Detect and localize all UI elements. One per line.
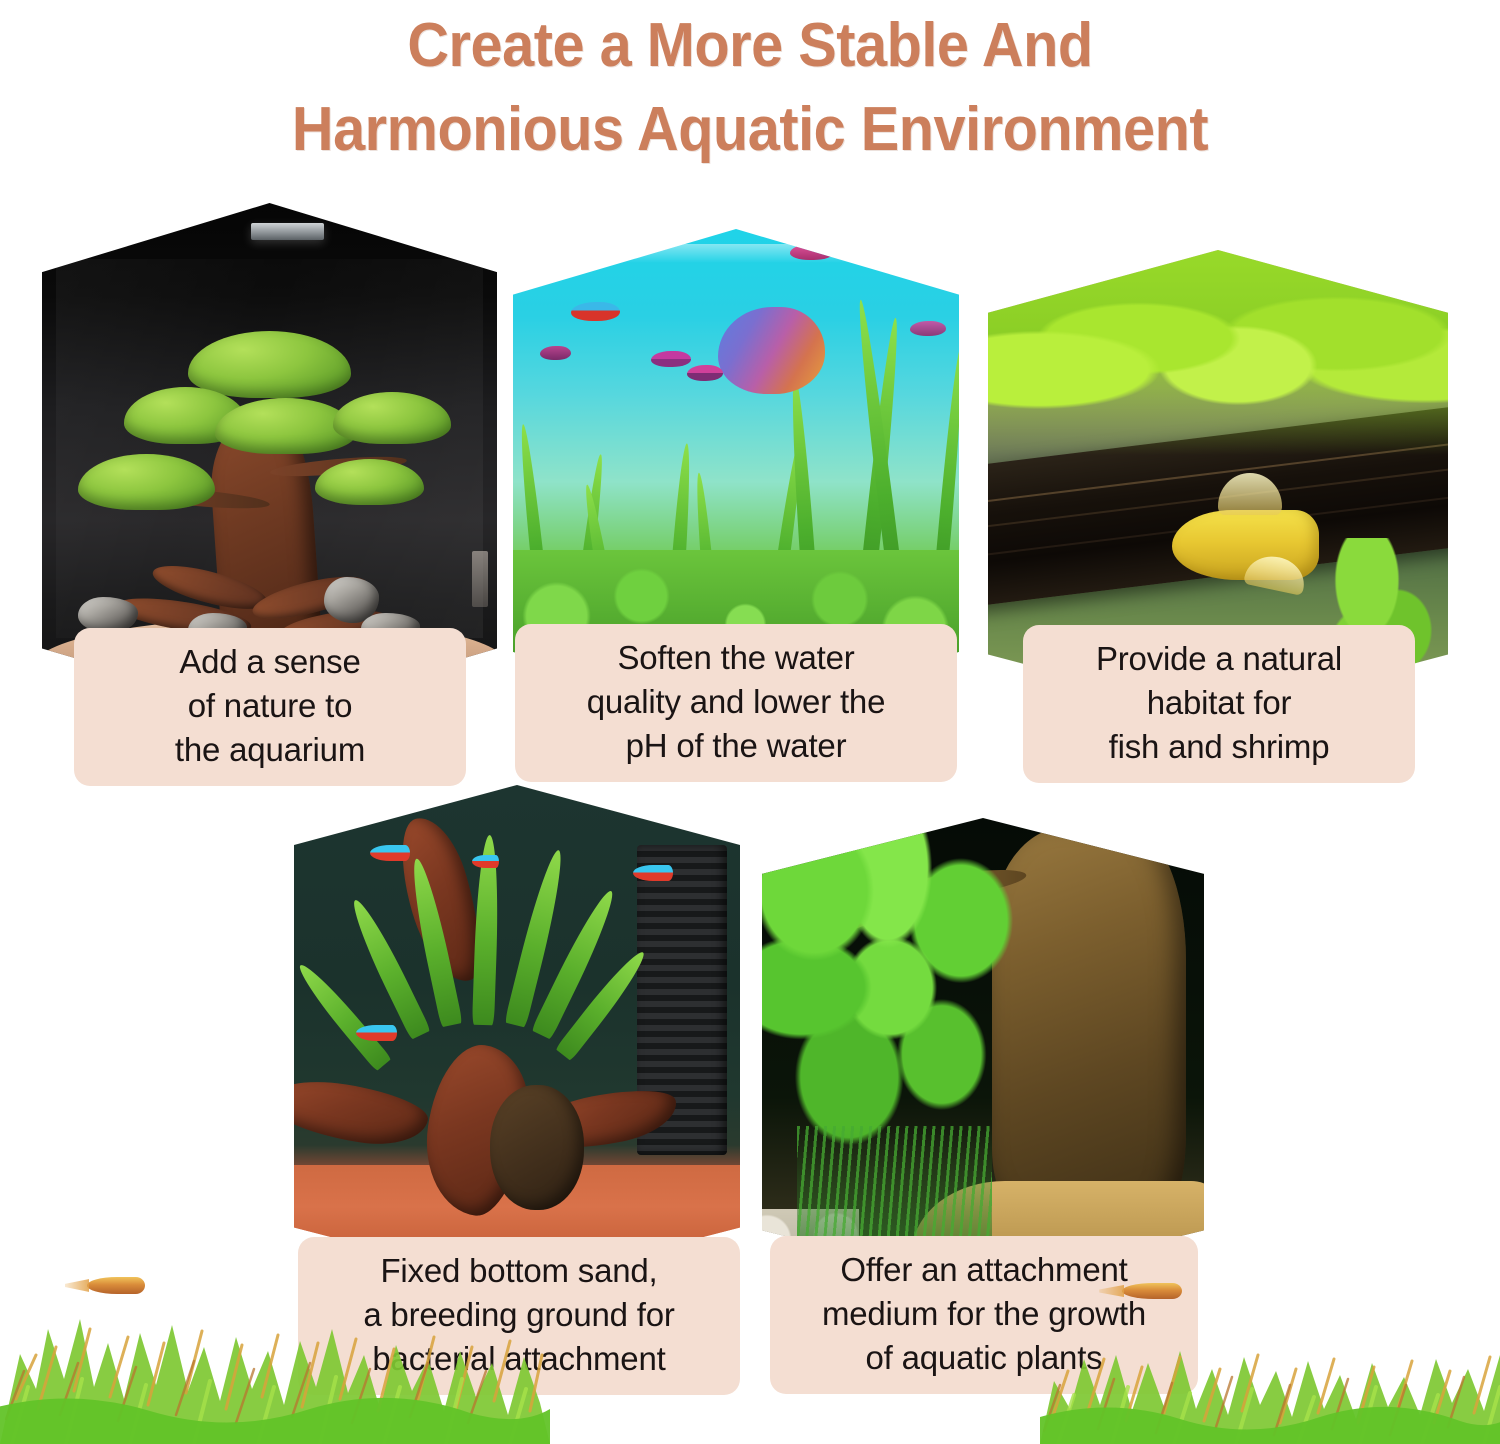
card-photo-attachment (762, 818, 1204, 1284)
benefit-card-moss-wood: Provide a natural habitat for fish and s… (988, 250, 1448, 715)
benefit-card-red-sand: Fixed bottom sand, a breeding ground for… (294, 785, 740, 1285)
card-photo-red-sand (294, 785, 740, 1285)
infographic-page: Create a More Stable And Harmonious Aqua… (0, 0, 1500, 1444)
water-surface (513, 244, 959, 263)
tetra-fish (571, 302, 620, 321)
benefit-card-attachment: Offer an attachment medium for the growt… (762, 818, 1204, 1284)
moss-ball-rock (490, 1085, 584, 1210)
tetra-fish (687, 365, 723, 381)
neon-tetra (356, 1025, 396, 1041)
card-caption-attachment: Offer an attachment medium for the growt… (770, 1236, 1198, 1394)
scene-red-sand-aquascape (294, 785, 740, 1285)
aquarium-light (251, 223, 324, 239)
white-fish (303, 815, 334, 830)
gourami-fish (718, 307, 825, 394)
card-caption-moss-wood: Provide a natural habitat for fish and s… (1023, 625, 1415, 783)
small-orange-fish (87, 1277, 145, 1294)
tetra-fish (910, 321, 946, 336)
benefit-card-planted: Soften the water quality and lower the p… (513, 229, 959, 715)
card-caption-red-sand: Fixed bottom sand, a breeding ground for… (298, 1237, 740, 1395)
tetra-fish (651, 351, 691, 368)
title-line-1: Create a More Stable And (53, 4, 1448, 88)
brand-mark (472, 551, 488, 607)
card-caption-bonsai: Add a sense of nature to the aquarium (74, 628, 466, 786)
neon-tetra (472, 855, 499, 868)
java-moss (988, 250, 1448, 455)
page-title: Create a More Stable And Harmonious Aqua… (0, 0, 1500, 175)
scene-driftwood-moss (762, 818, 1204, 1284)
tetra-fish (790, 244, 835, 261)
neon-tetra (370, 845, 410, 861)
title-line-2: Harmonious Aquatic Environment (53, 88, 1448, 172)
neon-tetra (633, 865, 673, 881)
card-caption-planted: Soften the water quality and lower the p… (515, 624, 957, 782)
tetra-fish (540, 346, 571, 361)
benefit-card-bonsai: Add a sense of nature to the aquarium (42, 203, 497, 715)
